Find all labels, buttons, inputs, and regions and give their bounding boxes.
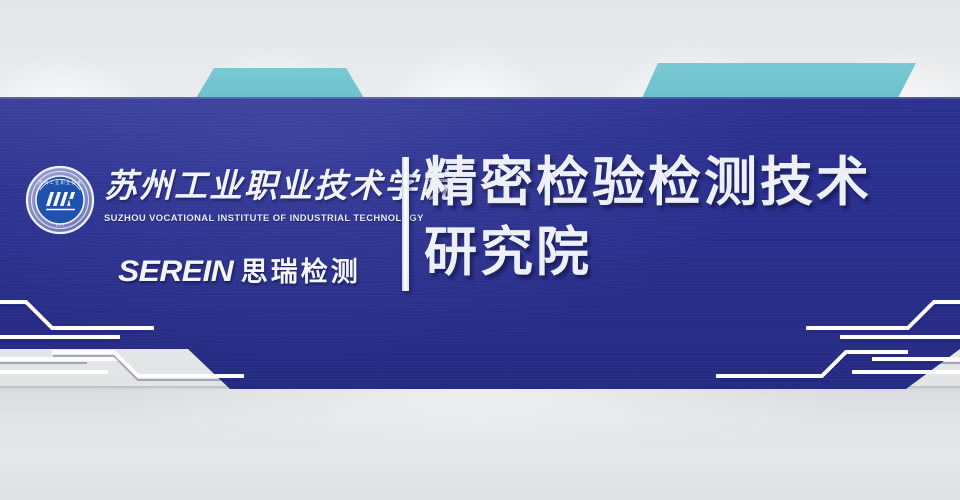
siit-crest-icon: 苏 州 工 业 职 业 技 术 S I I T [24,164,96,236]
signage-scene: 苏 州 工 业 职 业 技 术 S I I T 苏州工业职业技术学院 SUZHO… [0,0,960,500]
institute-title-line-2: 研究院 [424,218,954,288]
university-name-cn: 苏州工业职业技术学院 [104,164,404,210]
institute-title-line-1: 精密检验检测技术 [424,148,954,218]
university-name-en: SUZHOU VOCATIONAL INSTITUTE OF INDUSTRIA… [104,212,408,223]
brand-name-cn: 思瑞检测 [241,250,361,289]
institution-lockup: 苏 州 工 业 职 业 技 术 S I I T 苏州工业职业技术学院 SUZHO… [18,156,398,288]
brand-lockup: SEREIN 思瑞检测 [118,250,361,289]
vertical-divider [402,157,409,291]
floor [0,389,960,500]
svg-text:苏 州 工 业 职 业 技 术: 苏 州 工 业 职 业 技 术 [39,179,82,186]
panel-top-edge [0,97,960,99]
svg-text:S I I T: S I I T [56,224,64,228]
brand-name-en: SEREIN [118,255,233,289]
institute-title: 精密检验检测技术 研究院 [424,148,954,288]
